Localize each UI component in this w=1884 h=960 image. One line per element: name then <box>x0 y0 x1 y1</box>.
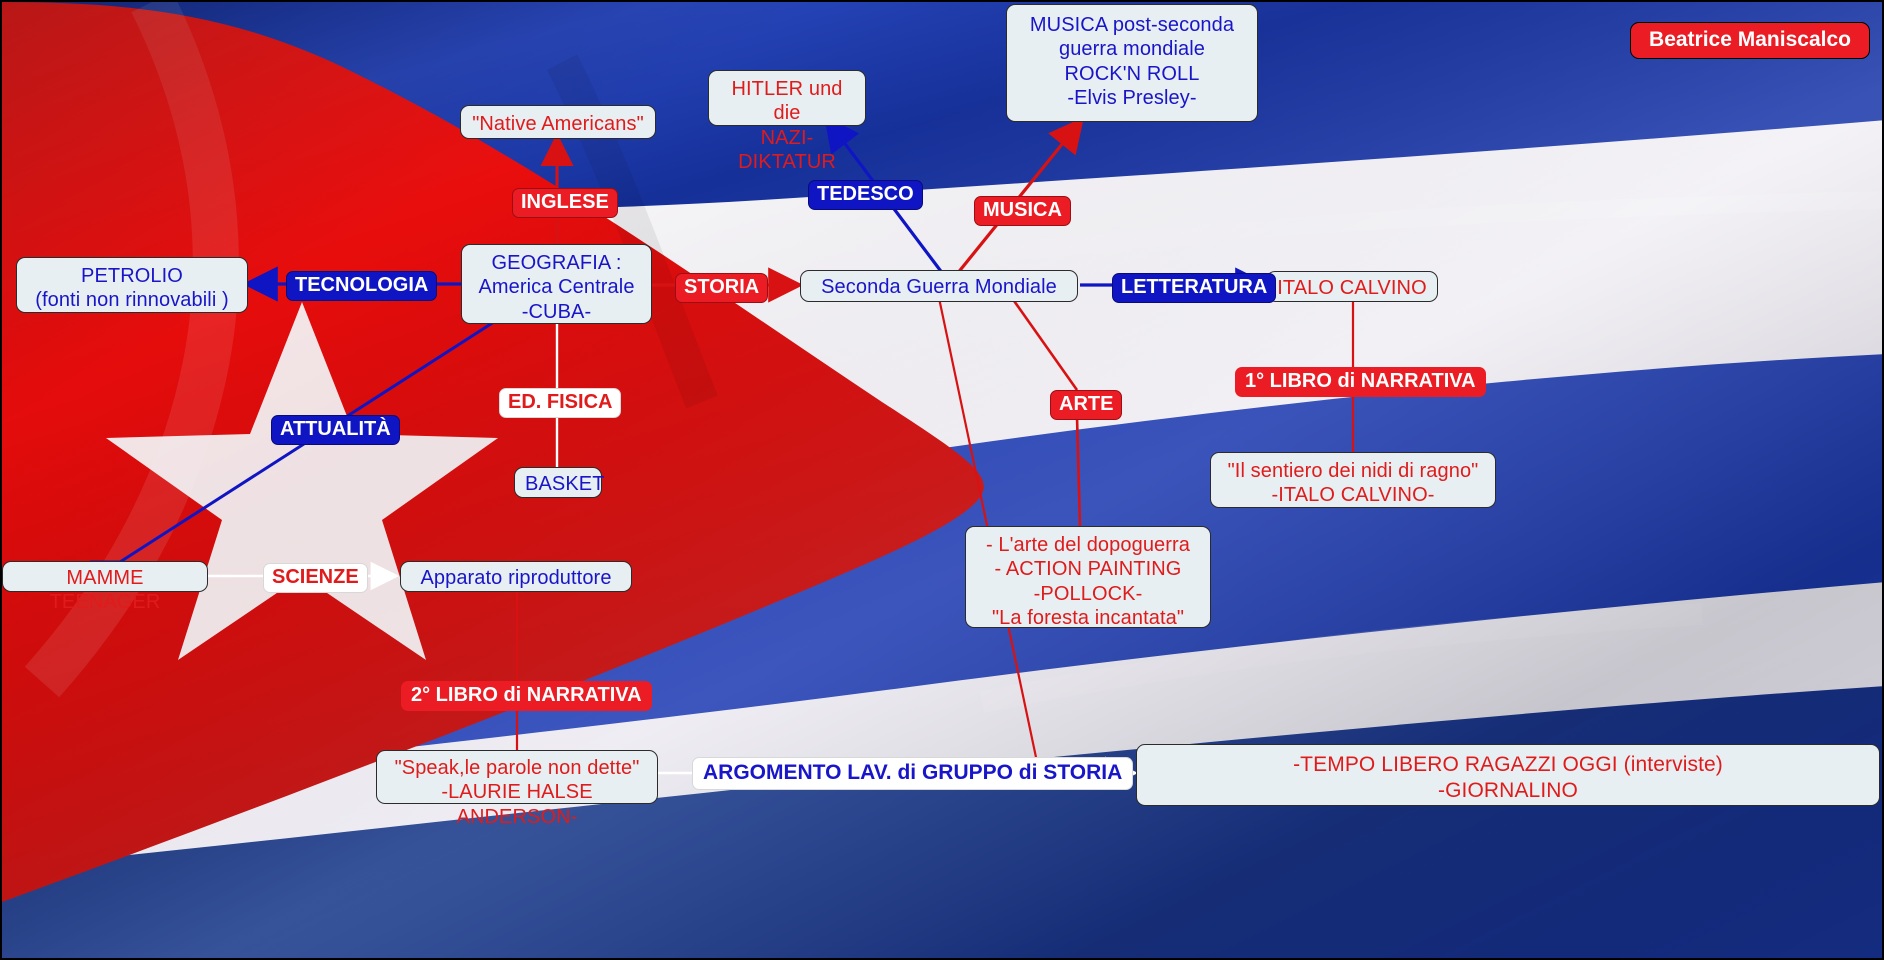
edge-label-arte[interactable]: ARTE <box>1050 390 1122 420</box>
node-apparato-riproduttore[interactable]: Apparato riproduttore <box>400 561 632 592</box>
edge-label-musica[interactable]: MUSICA <box>974 196 1071 226</box>
node-mamme-teenager[interactable]: MAMME TEENAGER <box>2 561 208 592</box>
edge-label-ed-fisica[interactable]: ED. FISICA <box>499 388 621 418</box>
edge-label-secondo-libro-narrativa[interactable]: 2° LIBRO di NARRATIVA <box>401 681 652 711</box>
edge-label-argomento-lavoro-gruppo-storia[interactable]: ARGOMENTO LAV. di GRUPPO di STORIA <box>692 757 1133 790</box>
concept-map-canvas: Beatrice Maniscalco "Native Americans" H… <box>0 0 1884 960</box>
edge-label-tecnologia[interactable]: TECNOLOGIA <box>286 271 437 301</box>
node-petrolio[interactable]: PETROLIO (fonti non rinnovabili ) <box>16 257 248 313</box>
edge-label-storia[interactable]: STORIA <box>675 273 768 303</box>
author-badge: Beatrice Maniscalco <box>1630 22 1870 59</box>
edge-label-inglese[interactable]: INGLESE <box>512 188 618 218</box>
node-arte-dopoguerra-pollock[interactable]: - L'arte del dopoguerra - ACTION PAINTIN… <box>965 526 1211 628</box>
node-italo-calvino[interactable]: ITALO CALVINO <box>1266 271 1438 302</box>
edge-label-attualita[interactable]: ATTUALITÀ <box>271 415 400 445</box>
node-geografia-cuba[interactable]: GEOGRAFIA : America Centrale -CUBA- <box>461 244 652 324</box>
edge-label-tedesco[interactable]: TEDESCO <box>808 180 923 210</box>
edge-label-scienze[interactable]: SCIENZE <box>263 563 368 593</box>
node-sentiero-nidi-di-ragno[interactable]: "Il sentiero dei nidi di ragno" -ITALO C… <box>1210 452 1496 508</box>
node-basket[interactable]: BASKET <box>514 467 602 498</box>
node-musica-rock-n-roll[interactable]: MUSICA post-seconda guerra mondiale ROCK… <box>1006 4 1258 122</box>
node-speak-laurie-halse-anderson[interactable]: "Speak,le parole non dette" -LAURIE HALS… <box>376 750 658 804</box>
node-tempo-libero-giornalino[interactable]: -TEMPO LIBERO RAGAZZI OGGI (interviste) … <box>1136 744 1880 806</box>
edge-label-letteratura[interactable]: LETTERATURA <box>1112 273 1276 303</box>
edge-label-primo-libro-narrativa[interactable]: 1° LIBRO di NARRATIVA <box>1235 367 1486 397</box>
node-hitler-nazi-diktatur[interactable]: HITLER und die NAZI-DIKTATUR <box>708 70 866 126</box>
node-seconda-guerra-mondiale[interactable]: Seconda Guerra Mondiale <box>800 270 1078 302</box>
node-native-americans[interactable]: "Native Americans" <box>460 105 656 139</box>
